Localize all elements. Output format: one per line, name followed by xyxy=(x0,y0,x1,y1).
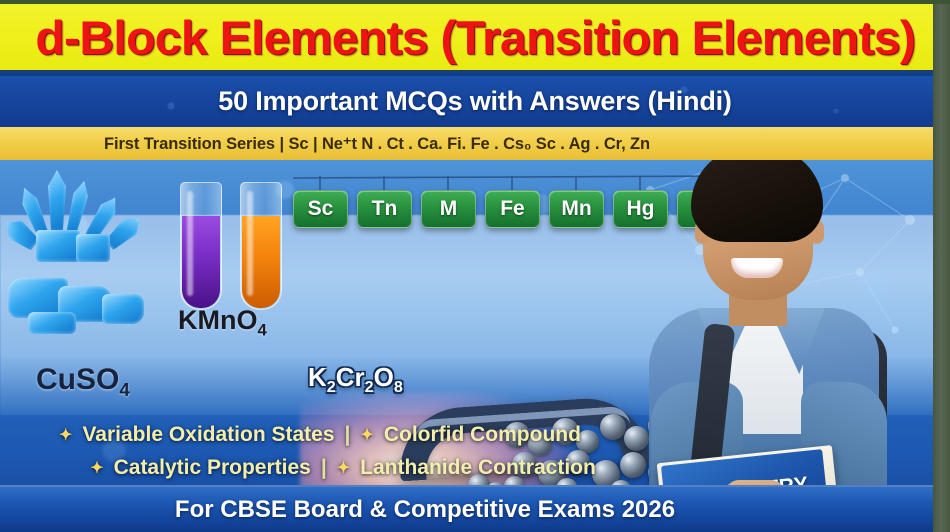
formula-k2cr2o8-s1: 2 xyxy=(327,378,336,396)
element-chip-mn[interactable]: Mn xyxy=(549,190,604,228)
feature-list: ✦ Variable Oxidation States | ✦ Colorfid… xyxy=(0,418,640,484)
hair xyxy=(691,146,823,242)
feature-divider: | xyxy=(321,456,327,480)
top-border-strip xyxy=(0,0,950,4)
feature-row-1: ✦ Variable Oxidation States | ✦ Colorfid… xyxy=(0,418,640,451)
footer-text: For CBSE Board & Competitive Exams 2026 xyxy=(175,496,775,524)
series-strip-text: First Transition Series | Sc | Ne⁺t N . … xyxy=(0,134,650,154)
feature-catalytic-properties: Catalytic Properties xyxy=(114,456,311,480)
element-chip-tn[interactable]: Tn xyxy=(357,190,412,228)
element-chip-sc[interactable]: Sc xyxy=(293,190,348,228)
subtitle-text: 50 Important MCQs with Answers (Hindi) xyxy=(218,86,731,117)
feature-row-2: ✦ Catalytic Properties | ✦ Lanthanide Co… xyxy=(0,451,640,484)
formula-k2cr2o8-p1: K xyxy=(308,362,327,392)
formula-k2cr2o8-s3: 8 xyxy=(394,378,403,396)
poster-thumbnail: Sc Tn M Fe Mn Hg Zn CuSO4 KMnO4 K2Cr2O8 … xyxy=(0,0,950,532)
formula-k2cr2o8: K2Cr2O8 xyxy=(308,362,403,397)
feature-variable-oxidation-states: Variable Oxidation States xyxy=(82,423,334,447)
subtitle-band: 50 Important MCQs with Answers (Hindi) xyxy=(0,76,950,126)
sparkle-icon: ✦ xyxy=(59,425,72,445)
title-banner: d-Block Elements (Transition Elements) xyxy=(0,4,950,73)
student-figure: CHEMISTRY xyxy=(633,132,933,532)
element-chip-m[interactable]: M xyxy=(421,190,476,228)
footer-band: For CBSE Board & Competitive Exams 2026 xyxy=(0,485,950,532)
formula-cuso4-sub: 4 xyxy=(119,379,129,400)
smiling-mouth xyxy=(731,258,783,278)
formula-kmno4-sub: 4 xyxy=(257,320,266,339)
formula-cuso4-main: CuSO xyxy=(36,363,119,396)
page-title: d-Block Elements (Transition Elements) xyxy=(35,10,915,65)
right-border-strip xyxy=(933,0,950,532)
formula-kmno4-main: KMnO xyxy=(178,305,257,335)
sparkle-icon: ✦ xyxy=(90,458,103,478)
formula-k2cr2o8-p3: O xyxy=(374,362,394,392)
feature-colorfid-compound: Colorfid Compound xyxy=(384,423,581,447)
element-chip-fe[interactable]: Fe xyxy=(485,190,540,228)
formula-k2cr2o8-s2: 2 xyxy=(365,378,374,396)
formula-kmno4: KMnO4 xyxy=(178,305,267,340)
feature-lanthanide-contraction: Lanthanide Contraction xyxy=(360,456,596,480)
formula-cuso4: CuSO4 xyxy=(36,363,130,401)
series-strip: First Transition Series | Sc | Ne⁺t N . … xyxy=(0,127,950,160)
copper-sulfate-crystals xyxy=(2,168,162,348)
feature-divider: | xyxy=(345,423,351,447)
sparkle-icon: ✦ xyxy=(337,458,350,478)
sparkle-icon: ✦ xyxy=(360,425,373,445)
formula-k2cr2o8-p2: Cr xyxy=(336,362,365,392)
